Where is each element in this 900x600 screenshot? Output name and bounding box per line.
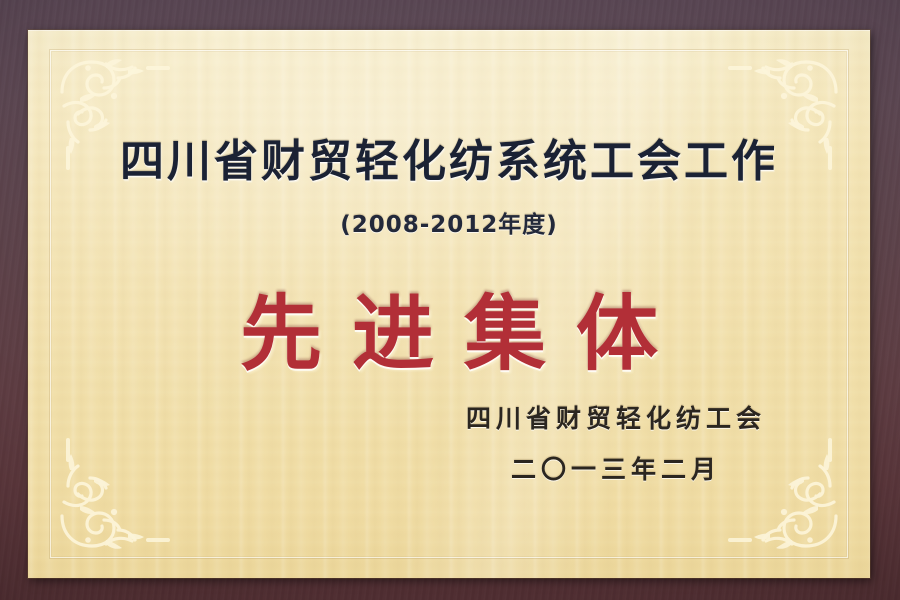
issuing-organization: 四川省财贸轻化纺工会 [461,399,766,435]
corner-ornament-bottom-left-icon [44,436,172,564]
corner-ornament-top-left-icon [44,44,172,172]
plaque-horizontal-banding [28,30,870,578]
corner-ornament-top-right-icon [726,44,854,172]
plaque-signature-block: 四川省财贸轻化纺工会 二〇一三年二月 [461,399,766,486]
plaque-subtitle-period: (2008-2012年度) [340,205,558,239]
plaque-text-content: 四川省财贸轻化纺系统工会工作 (2008-2012年度) 先进集体 [28,30,870,578]
plaque-sheen [28,30,870,578]
plaque-award-headline: 先进集体 [210,267,688,386]
plaque-title: 四川省财贸轻化纺系统工会工作 [120,125,778,189]
issue-date: 二〇一三年二月 [461,450,766,486]
plaque-brushed-texture [28,30,870,578]
award-plaque-image: 四川省财贸轻化纺系统工会工作 (2008-2012年度) 先进集体 四川省财贸轻… [0,0,900,600]
gold-plaque: 四川省财贸轻化纺系统工会工作 (2008-2012年度) 先进集体 四川省财贸轻… [28,30,870,578]
